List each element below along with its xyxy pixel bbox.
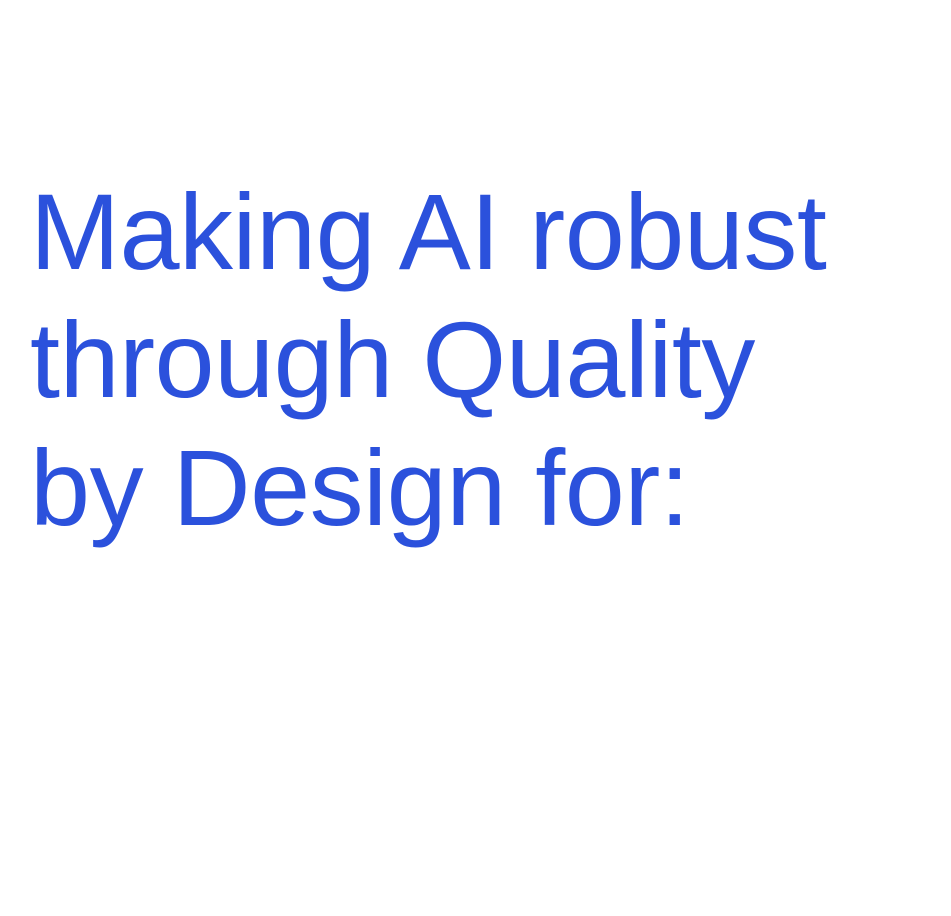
slide-canvas: Making AI robust through Quality by Desi…	[0, 0, 951, 916]
headline-line-1: Making AI robust	[30, 168, 930, 296]
headline-block: Making AI robust through Quality by Desi…	[30, 168, 930, 552]
headline-line-2: through Quality	[30, 296, 930, 424]
headline-line-3: by Design for:	[30, 424, 930, 552]
